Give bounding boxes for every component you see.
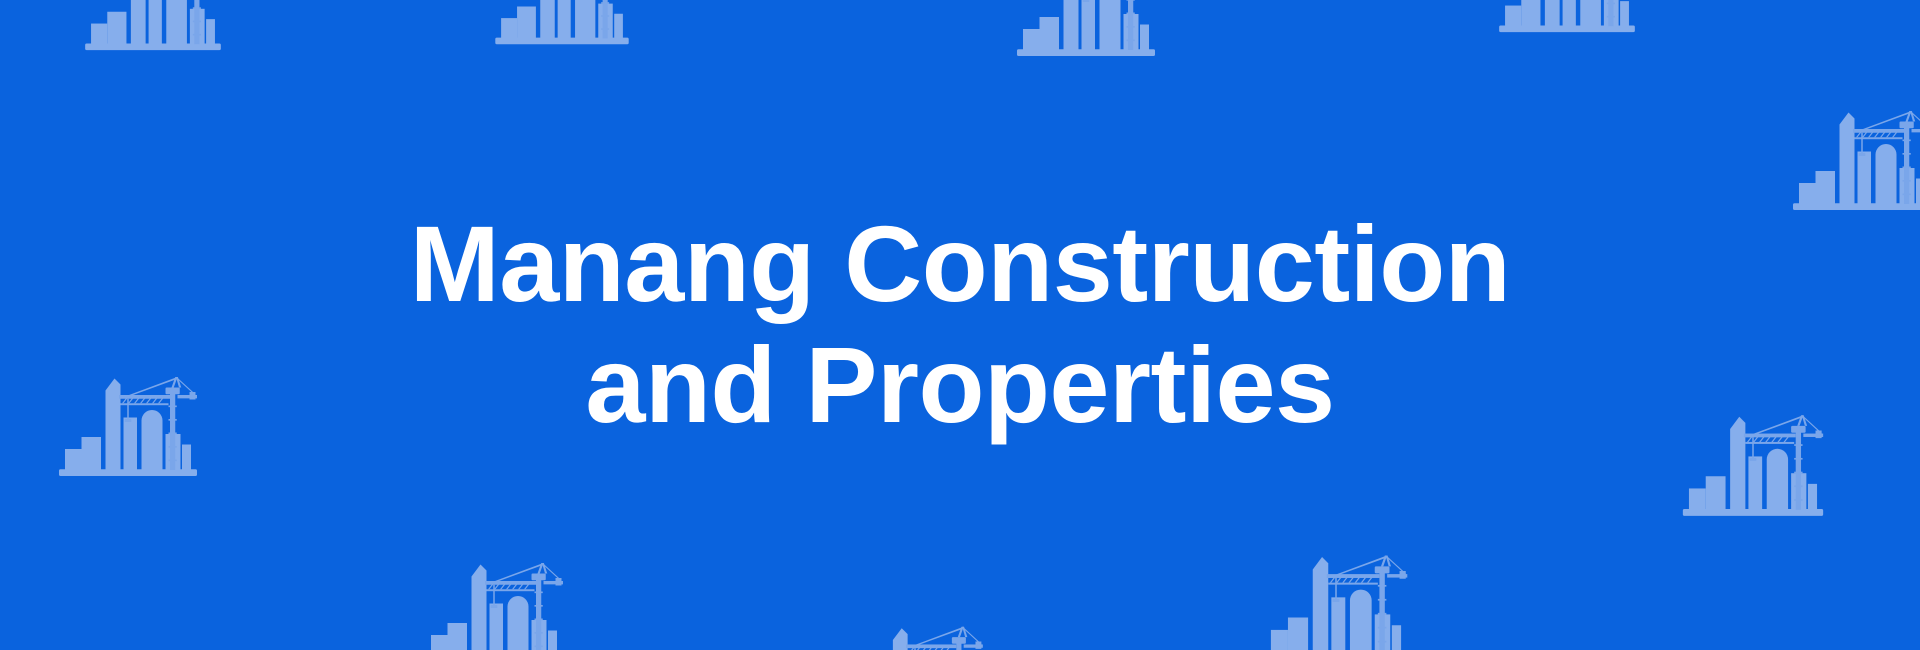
banner-title-block: Manang Construction and Properties: [0, 0, 1920, 650]
page-title-line-2: and Properties: [585, 325, 1334, 446]
page-title-line-1: Manang Construction: [410, 204, 1510, 325]
company-banner: Manang Construction and Properties: [0, 0, 1920, 650]
